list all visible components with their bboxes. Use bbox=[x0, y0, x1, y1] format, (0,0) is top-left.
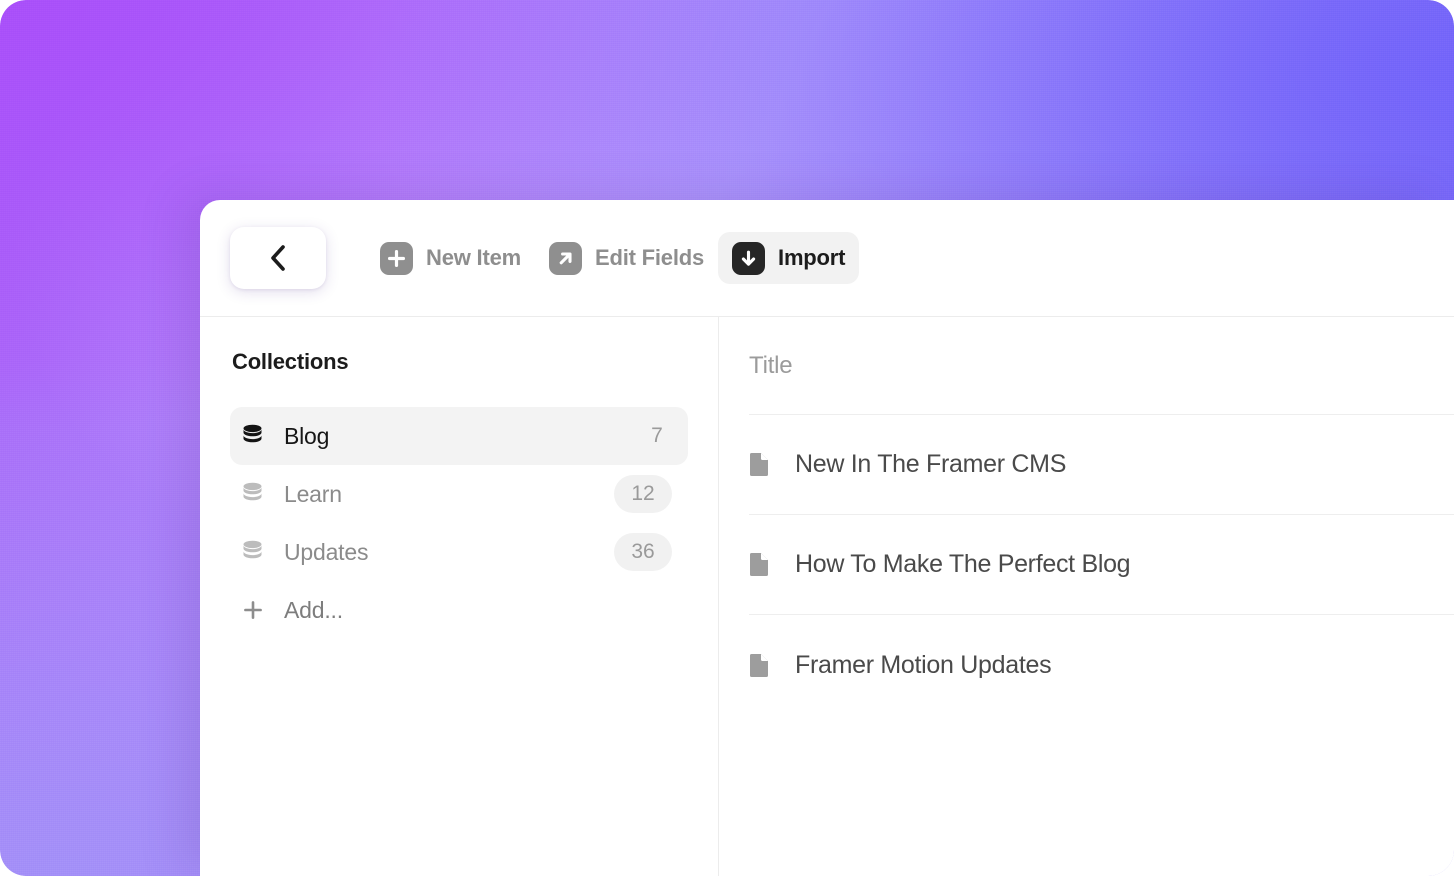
new-item-button[interactable]: New Item bbox=[366, 232, 535, 284]
back-button[interactable] bbox=[230, 227, 326, 289]
table-row-title: How To Make The Perfect Blog bbox=[795, 550, 1130, 579]
import-button[interactable]: Import bbox=[718, 232, 859, 284]
sidebar-item-updates-count: 36 bbox=[614, 533, 672, 571]
sidebar-item-learn[interactable]: Learn 12 bbox=[230, 465, 688, 523]
panel-body: Collections Blog 7 bbox=[200, 317, 1454, 876]
edit-fields-label: Edit Fields bbox=[595, 245, 704, 271]
sidebar-item-updates[interactable]: Updates 36 bbox=[230, 523, 688, 581]
plus-icon bbox=[380, 242, 413, 275]
edit-fields-button[interactable]: Edit Fields bbox=[535, 232, 718, 284]
table-row[interactable]: Framer Motion Updates bbox=[749, 615, 1454, 715]
collections-sidebar: Collections Blog 7 bbox=[200, 317, 719, 876]
arrow-down-icon bbox=[732, 242, 765, 275]
chevron-left-icon bbox=[267, 243, 289, 273]
items-table: Title New In The Framer CMS bbox=[719, 317, 1454, 876]
document-icon bbox=[749, 452, 769, 477]
document-icon bbox=[749, 552, 769, 577]
arrow-up-right-icon bbox=[549, 242, 582, 275]
import-label: Import bbox=[778, 245, 845, 271]
document-icon bbox=[749, 653, 769, 678]
database-icon bbox=[242, 482, 270, 506]
cms-panel: New Item Edit Fields I bbox=[200, 200, 1454, 876]
sidebar-item-learn-count: 12 bbox=[614, 475, 672, 513]
table-row[interactable]: How To Make The Perfect Blog bbox=[749, 515, 1454, 615]
database-icon bbox=[242, 424, 270, 448]
sidebar-item-blog-count: 7 bbox=[642, 424, 672, 448]
collections-heading: Collections bbox=[230, 349, 688, 375]
new-item-label: New Item bbox=[426, 245, 521, 271]
sidebar-item-updates-label: Updates bbox=[270, 539, 614, 566]
sidebar-item-blog-label: Blog bbox=[270, 423, 642, 450]
table-row-title: Framer Motion Updates bbox=[795, 651, 1051, 680]
database-icon bbox=[242, 540, 270, 564]
sidebar-item-learn-label: Learn bbox=[270, 481, 614, 508]
plus-icon bbox=[242, 599, 270, 621]
table-row[interactable]: New In The Framer CMS bbox=[749, 415, 1454, 515]
toolbar: New Item Edit Fields I bbox=[200, 200, 1454, 317]
screen: New Item Edit Fields I bbox=[0, 0, 1454, 876]
sidebar-add-label: Add... bbox=[270, 597, 672, 624]
column-header-title: Title bbox=[749, 317, 1454, 415]
sidebar-add-collection[interactable]: Add... bbox=[230, 581, 688, 639]
sidebar-item-blog[interactable]: Blog 7 bbox=[230, 407, 688, 465]
table-row-title: New In The Framer CMS bbox=[795, 450, 1066, 479]
